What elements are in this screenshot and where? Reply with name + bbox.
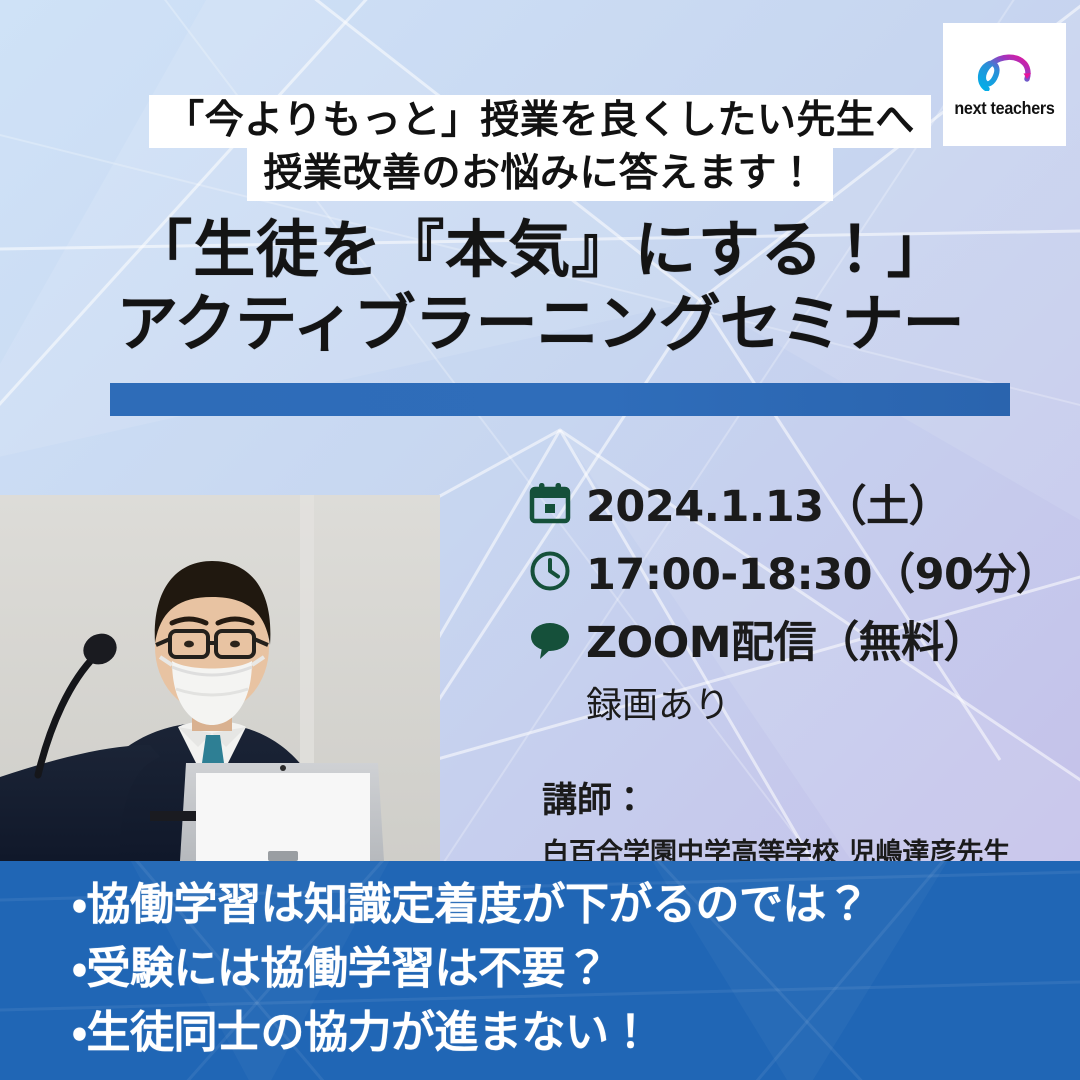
kicker-headline: 「今よりもっと」授業を良くしたい先生へ 授業改善のお悩みに答えます！: [0, 95, 1080, 201]
calendar-icon: [528, 481, 572, 525]
kicker-line-1: 「今よりもっと」授業を良くしたい先生へ: [149, 95, 931, 148]
detail-row-platform: ZOOM配信（無料）: [528, 608, 1068, 670]
page-title: 「生徒を『本気』にする！」 アクティブラーニングセミナー: [0, 215, 1080, 359]
speaker-photo-image: [0, 495, 440, 861]
pain-points-section: ・協働学習は知識定着度が下がるのでは？ ・受験には協働学習は不要？ ・生徒同士の…: [0, 861, 1080, 1080]
pain-points-list: ・協働学習は知識定着度が下がるのでは？ ・受験には協働学習は不要？ ・生徒同士の…: [0, 861, 1080, 1055]
clock-icon: [528, 549, 572, 593]
speaker-photo: [0, 495, 440, 861]
detail-time-text: 17:00-18:30（90分）: [586, 540, 1058, 602]
detail-recording-note: 録画あり: [586, 676, 1068, 728]
detail-row-time: 17:00-18:30（90分）: [528, 540, 1068, 602]
detail-platform-text: ZOOM配信（無料）: [586, 608, 986, 670]
detail-date-text: 2024.1.13（土）: [586, 472, 951, 534]
speech-bubble-icon: [528, 617, 572, 661]
lecturer-label: 講師：: [542, 772, 1068, 823]
kicker-line-2: 授業改善のお悩みに答えます！: [247, 148, 832, 201]
swirl-logo-icon: [974, 51, 1036, 91]
detail-row-date: 2024.1.13（土）: [528, 472, 1068, 534]
pain-point-item: ・受験には協働学習は不要？: [72, 947, 1080, 991]
event-details: 2024.1.13（土） 17:00-18:30（90分） ZOOM配信（無料）…: [528, 472, 1068, 870]
title-divider-bar: [110, 383, 1010, 416]
seminar-flyer: next teachers 「今よりもっと」授業を良くしたい先生へ 授業改善のお…: [0, 0, 1080, 1080]
title-line-1: 「生徒を『本気』にする！」: [0, 215, 1080, 285]
title-line-2: アクティブラーニングセミナー: [0, 289, 1080, 359]
pain-point-item: ・協働学習は知識定着度が下がるのでは？: [72, 883, 1080, 927]
pain-point-item: ・生徒同士の協力が進まない！: [72, 1011, 1080, 1055]
